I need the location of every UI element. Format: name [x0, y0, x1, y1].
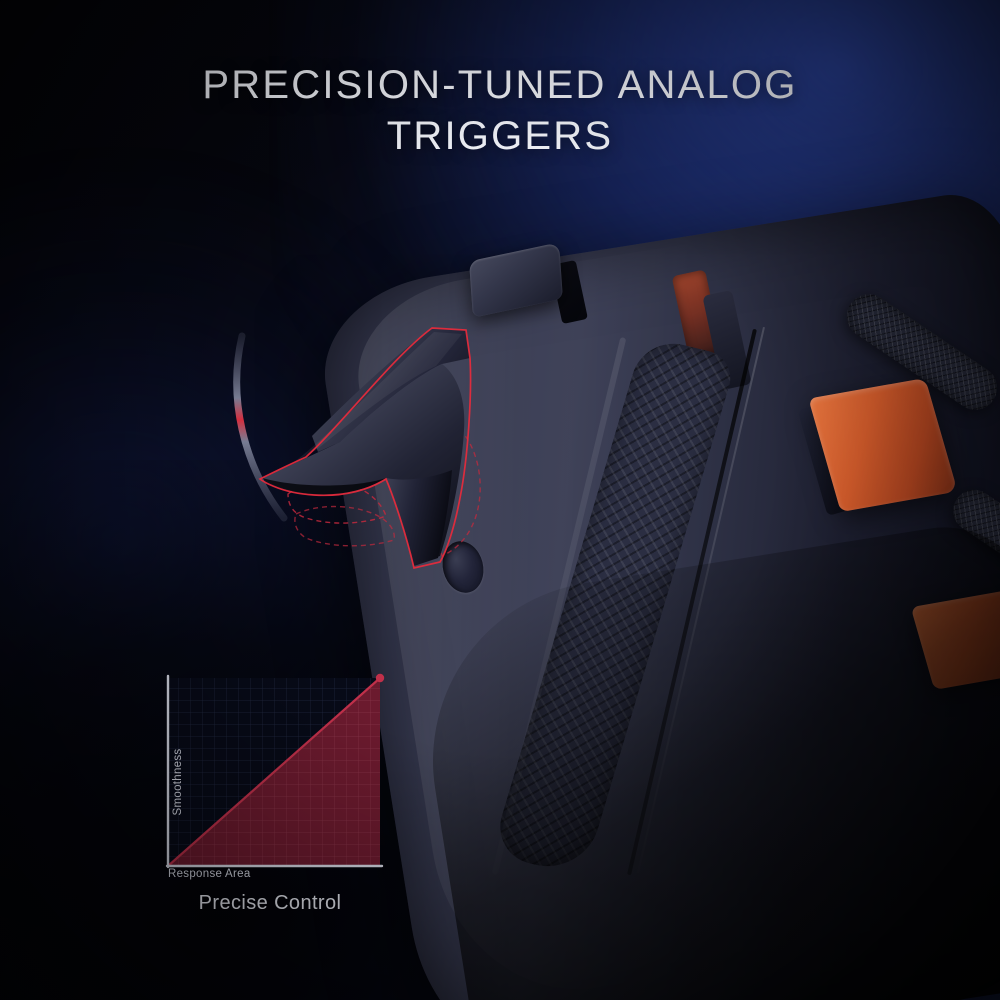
marketing-banner: PRECISION-TUNED ANALOG TRIGGERS: [0, 0, 1000, 1000]
vignette-overlay: [0, 0, 1000, 1000]
